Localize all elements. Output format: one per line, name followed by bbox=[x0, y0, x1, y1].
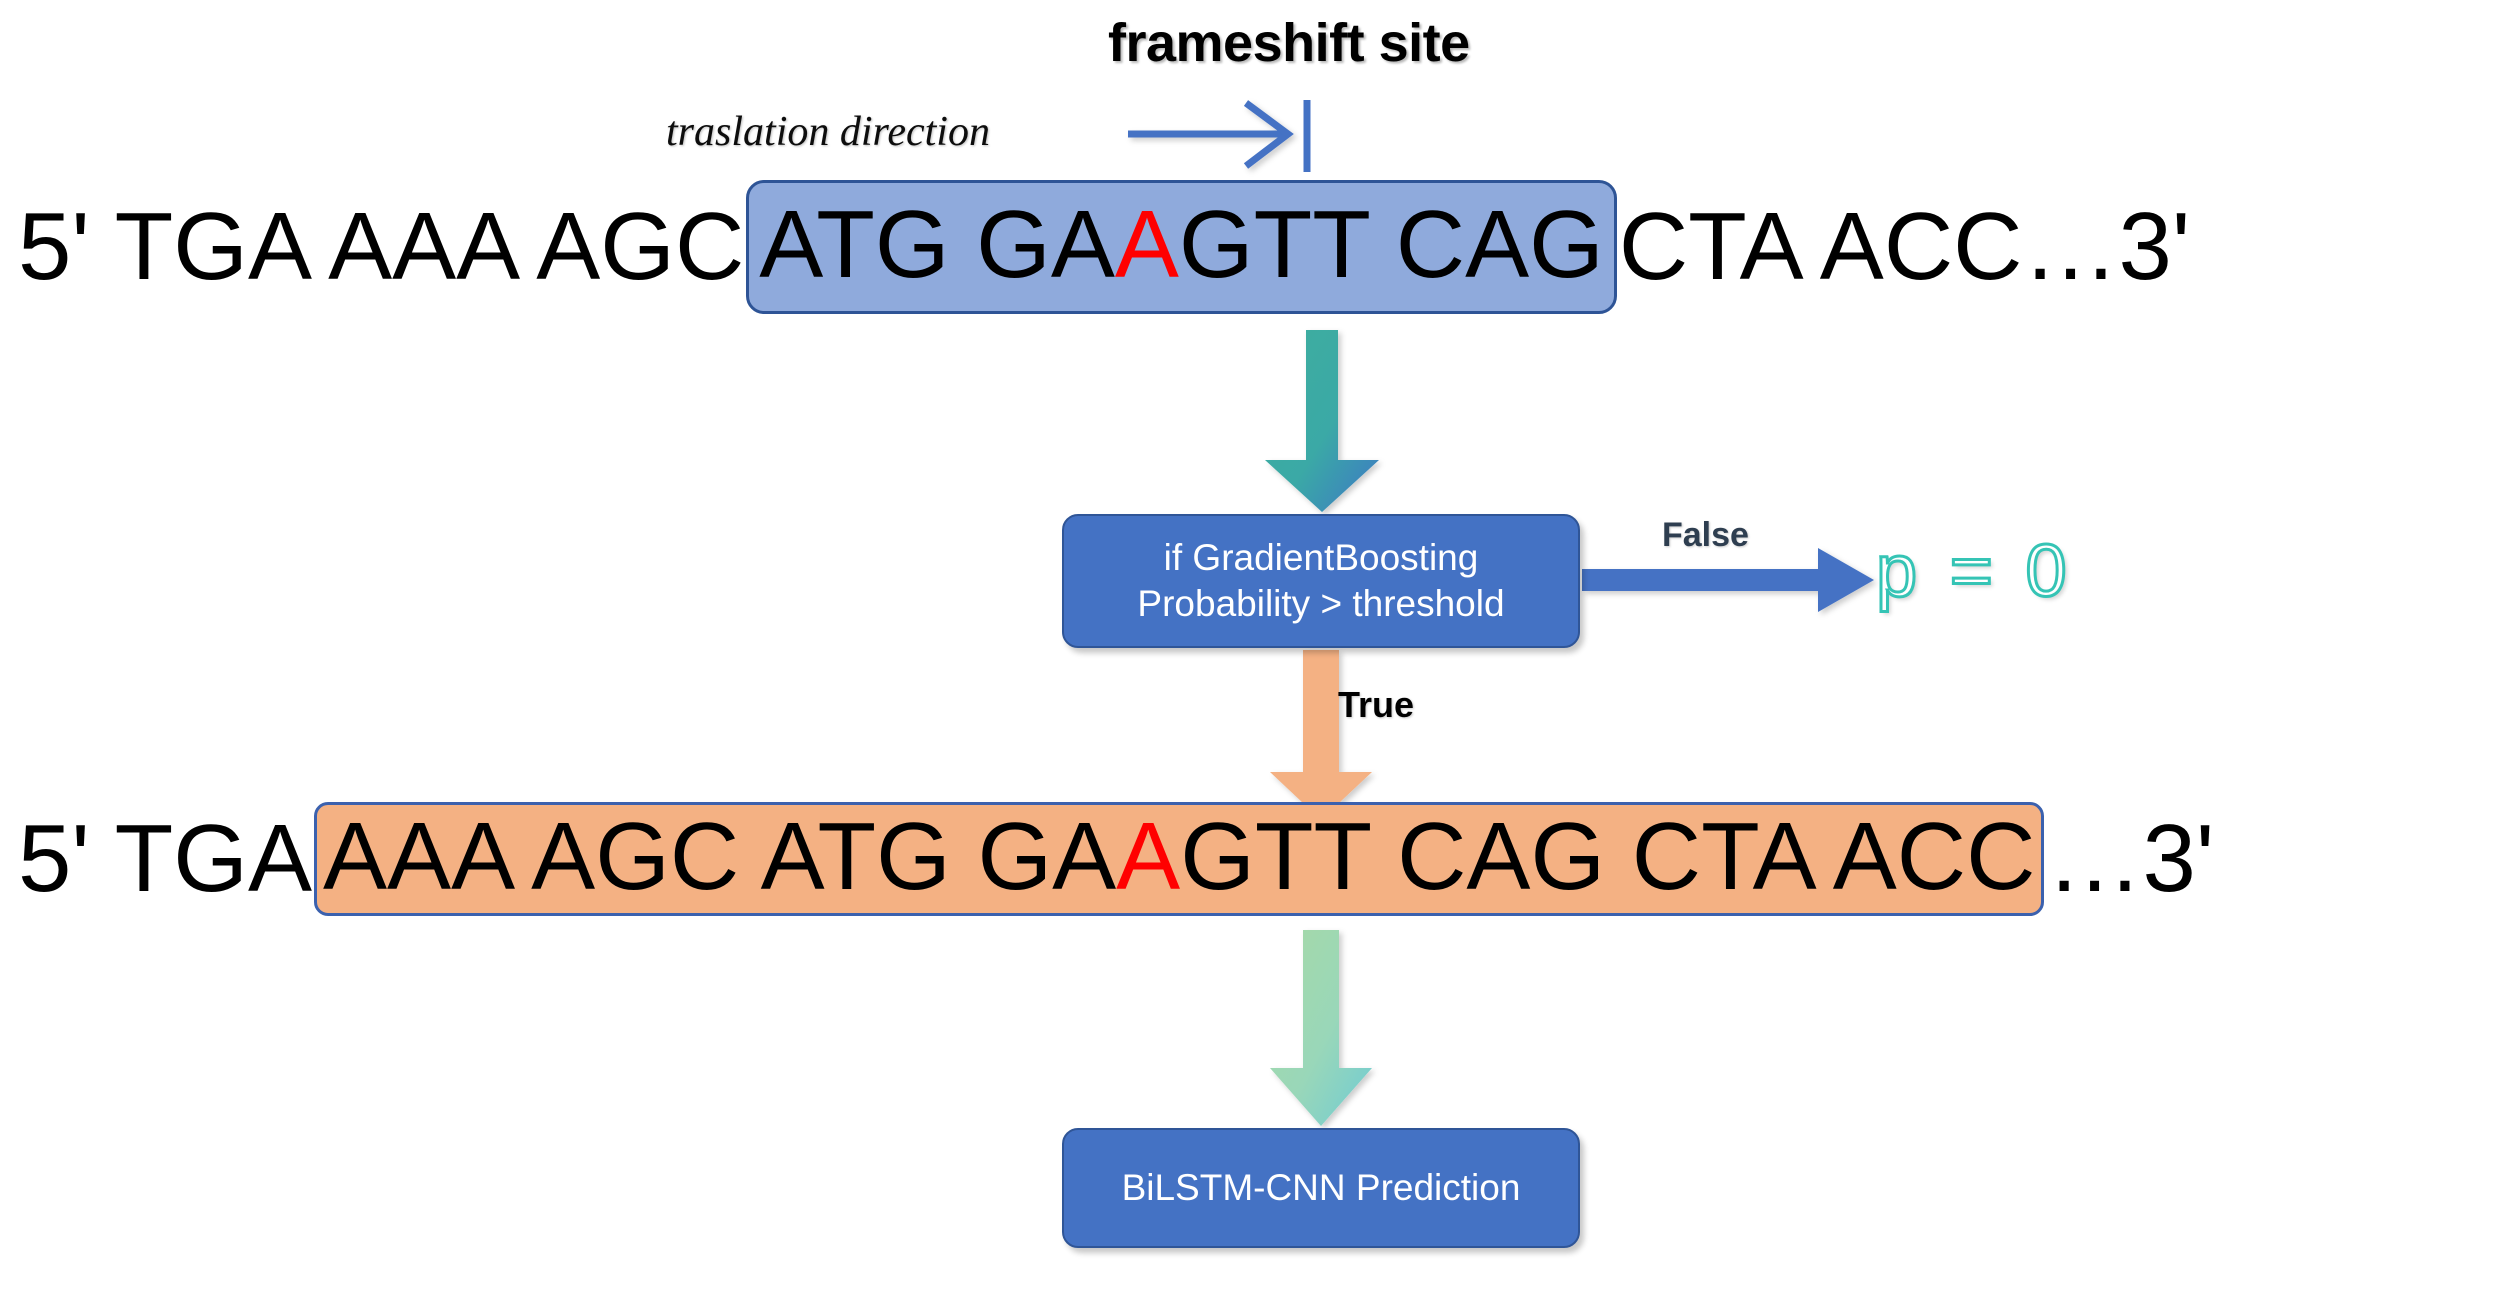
edge-label-false: False bbox=[1662, 516, 1749, 555]
arrow-sequence-to-prediction bbox=[1270, 930, 1372, 1126]
translation-direction-arrow bbox=[1128, 103, 1288, 166]
prediction-box-label: BiLSTM-CNN Prediction bbox=[1122, 1167, 1521, 1209]
page-title: frameshift site bbox=[1108, 12, 1470, 74]
sequence-top-prefix: 5' TGA AAA AGC bbox=[16, 199, 746, 295]
mutated-base-red-bottom: A bbox=[1116, 809, 1180, 905]
sequence-bottom-highlight-after-red: GTT CAG CTA ACC bbox=[1180, 809, 2035, 905]
arrow-false-branch bbox=[1582, 548, 1874, 612]
sequence-top-suffix: CTA ACC…3' bbox=[1617, 199, 2192, 295]
decision-box[interactable]: if GradientBoosting Probability > thresh… bbox=[1062, 514, 1580, 648]
decision-box-line1: if GradientBoosting bbox=[1137, 535, 1504, 581]
sequence-bottom-suffix: …3' bbox=[2044, 811, 2216, 907]
sequence-top-highlight-after-red: GTT CAG bbox=[1179, 197, 1604, 293]
sequence-row-bottom: 5' TGA AAA AGC ATG GA A GTT CAG CTA ACC … bbox=[16, 802, 2216, 916]
edge-label-true: True bbox=[1338, 684, 1414, 726]
translation-direction-label: traslation direction bbox=[666, 108, 990, 156]
arrow-true-branch bbox=[1270, 650, 1372, 820]
decision-box-text: if GradientBoosting Probability > thresh… bbox=[1137, 535, 1504, 627]
arrow-sequence-to-decision bbox=[1265, 330, 1379, 512]
decision-box-line2: Probability > threshold bbox=[1137, 581, 1504, 627]
shifted-frame-highlight: AAA AGC ATG GA A GTT CAG CTA ACC bbox=[314, 802, 2044, 916]
frameshift-window-highlight: ATG GA A GTT CAG bbox=[746, 180, 1617, 314]
mutated-base-red-top: A bbox=[1115, 197, 1179, 293]
false-outcome-p-equals-zero: p = 0 bbox=[1876, 528, 2073, 613]
sequence-bottom-highlight-before-red: AAA AGC ATG GA bbox=[323, 809, 1116, 905]
sequence-bottom-prefix: 5' TGA bbox=[16, 811, 314, 907]
prediction-box[interactable]: BiLSTM-CNN Prediction bbox=[1062, 1128, 1580, 1248]
sequence-row-top: 5' TGA AAA AGC ATG GA A GTT CAG CTA ACC…… bbox=[16, 180, 2192, 314]
sequence-top-highlight-before-red: ATG GA bbox=[759, 197, 1115, 293]
diagram-canvas: frameshift site traslation direction 5' … bbox=[0, 0, 2502, 1297]
